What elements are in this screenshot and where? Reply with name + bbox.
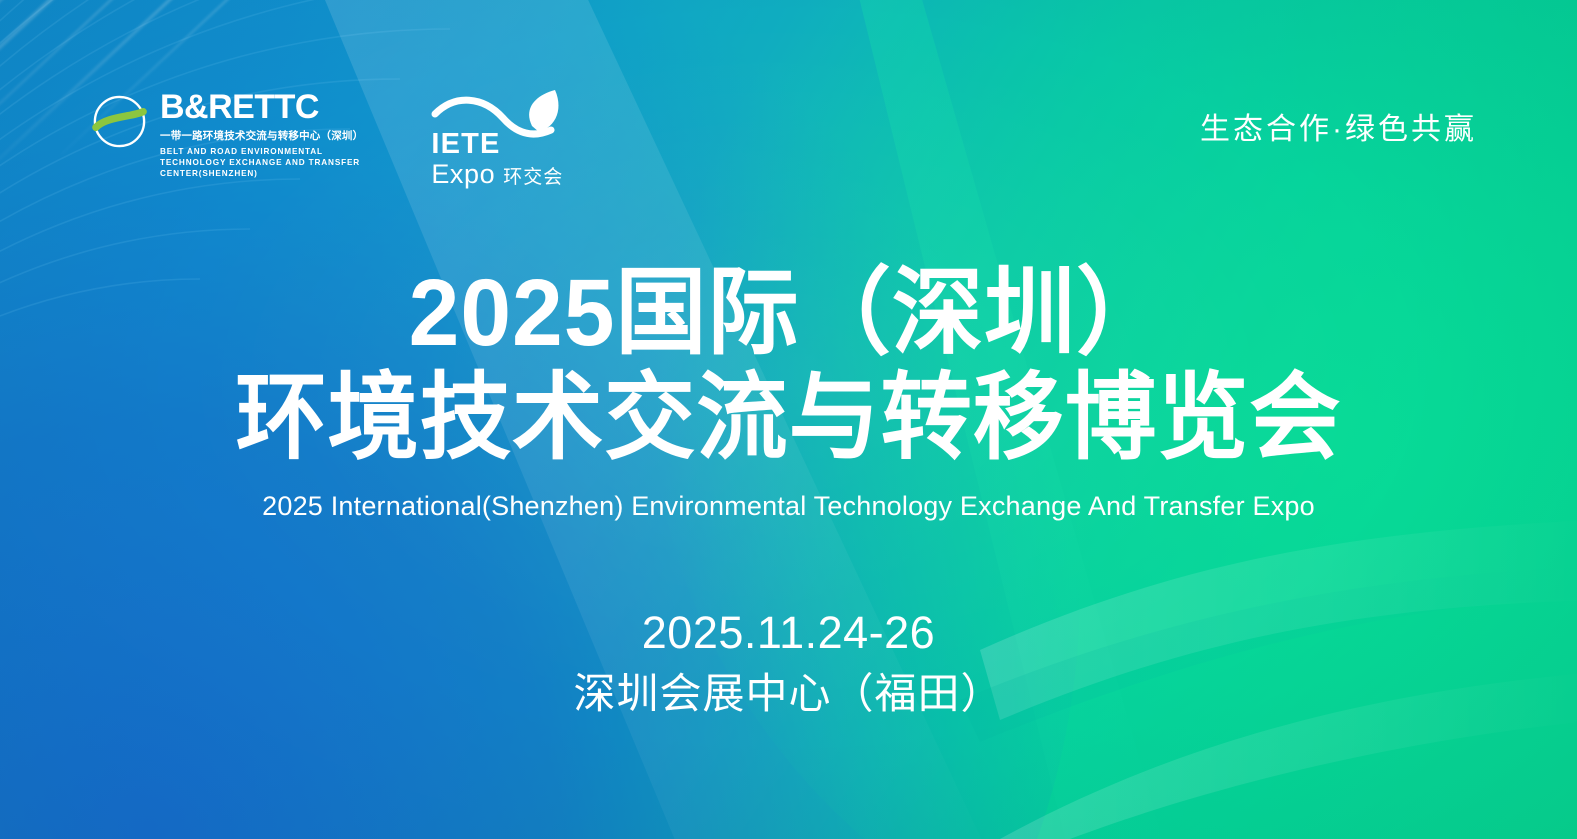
event-details: 2025.11.24-26 深圳会展中心（福田）: [0, 605, 1577, 722]
title-line-1: 2025国际（深圳）: [32, 262, 1546, 365]
iete-wordmark: IETE: [431, 130, 563, 159]
brettc-english-line-1: BELT AND ROAD ENVIRONMENTAL: [160, 146, 363, 157]
event-date: 2025.11.24-26: [0, 605, 1577, 661]
banner-slogan: 生态合作·绿色共赢: [1200, 104, 1477, 148]
subtitle-english: 2025 International(Shenzhen) Environment…: [0, 491, 1577, 522]
brettc-logo[interactable]: B&RETTC 一带一路环境技术交流与转移中心（深圳） BELT AND ROA…: [88, 88, 363, 179]
headline-block: 2025国际（深圳） 环境技术交流与转移博览会 2025 Internation…: [0, 262, 1577, 522]
title-line-2: 环境技术交流与转移博览会: [32, 367, 1546, 470]
brettc-chinese-name: 一带一路环境技术交流与转移中心（深圳）: [160, 128, 363, 143]
event-banner: B&RETTC 一带一路环境技术交流与转移中心（深圳） BELT AND ROA…: [0, 0, 1577, 839]
brettc-wordmark: B&RETTC: [160, 90, 363, 124]
brettc-english-line-2: TECHNOLOGY EXCHANGE AND TRANSFER: [160, 157, 363, 168]
iete-expo-label: Expo: [431, 160, 495, 188]
brettc-english-line-3: CENTER(SHENZHEN): [160, 168, 363, 179]
event-venue: 深圳会展中心（福田）: [0, 667, 1577, 722]
globe-orbit-icon: [88, 90, 151, 153]
logo-row: B&RETTC 一带一路环境技术交流与转移中心（深圳） BELT AND ROA…: [88, 88, 589, 188]
iete-chinese-label: 环交会: [503, 162, 563, 189]
iete-expo-logo[interactable]: IETE Expo 环交会: [429, 88, 589, 188]
